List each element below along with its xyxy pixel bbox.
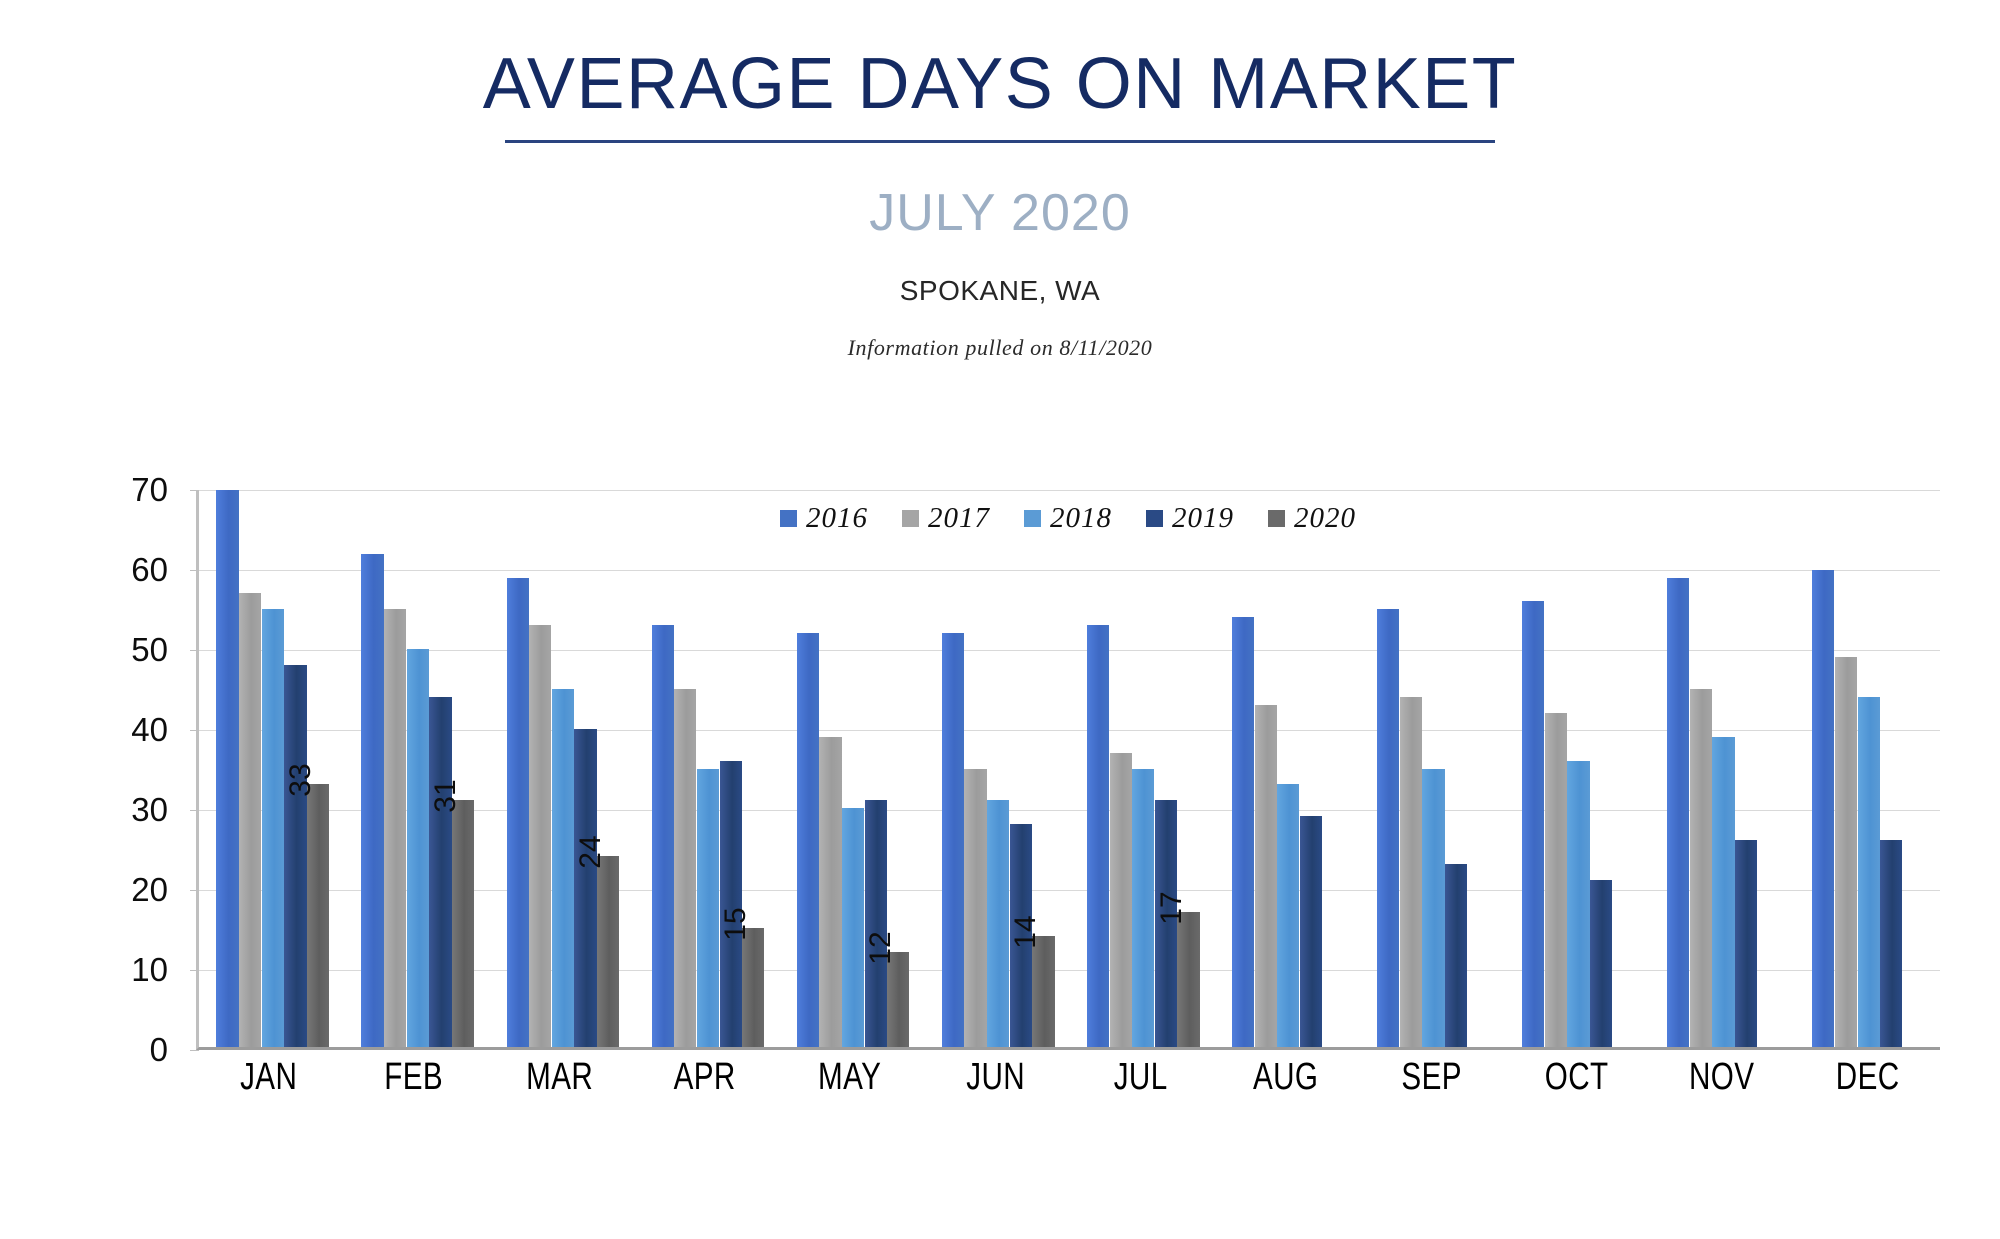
bar-group: 33: [199, 490, 344, 1047]
bar-2020-mar[interactable]: 24: [597, 856, 619, 1047]
bar-group: [1650, 490, 1795, 1047]
x-tick-label: JAN: [212, 1056, 325, 1099]
bar-2017-feb[interactable]: [384, 609, 406, 1047]
bar-group: [1215, 490, 1360, 1047]
bar-chart: 010203040506070 33312415121417 201620172…: [100, 490, 1940, 1170]
y-tick-mark: [190, 730, 199, 731]
bar-2020-jan[interactable]: 33: [307, 784, 329, 1047]
bar-2016-jan[interactable]: [216, 490, 238, 1047]
bar-2019-sep[interactable]: [1445, 864, 1467, 1047]
bar-2020-jul[interactable]: 17: [1177, 912, 1199, 1047]
x-tick-label: AUG: [1229, 1056, 1342, 1099]
bar-2017-oct[interactable]: [1545, 713, 1567, 1047]
bar-value-label: 15: [719, 907, 753, 940]
bar-group: [1505, 490, 1650, 1047]
bar-2018-jul[interactable]: [1132, 769, 1154, 1048]
x-axis-labels: JANFEBMARAPRMAYJUNJULAUGSEPOCTNOVDEC: [196, 1056, 1940, 1099]
y-tick-label: 70: [131, 471, 168, 509]
bar-2019-mar[interactable]: [574, 729, 596, 1047]
bar-2017-apr[interactable]: [674, 689, 696, 1047]
x-tick-label: SEP: [1375, 1056, 1488, 1099]
x-tick-label: FEB: [357, 1056, 470, 1099]
y-tick-mark: [190, 1050, 199, 1051]
bar-2017-may[interactable]: [819, 737, 841, 1047]
y-axis-labels: 010203040506070: [100, 490, 178, 1050]
bar-2018-apr[interactable]: [697, 769, 719, 1048]
y-tick-label: 20: [131, 871, 168, 909]
bar-2016-jun[interactable]: [942, 633, 964, 1047]
bar-2018-sep[interactable]: [1422, 769, 1444, 1048]
bar-2019-aug[interactable]: [1300, 816, 1322, 1047]
bar-group: [1795, 490, 1940, 1047]
bar-2018-mar[interactable]: [552, 689, 574, 1047]
x-tick-label: JUL: [1084, 1056, 1197, 1099]
bar-group: 17: [1069, 490, 1214, 1047]
bar-group: [1360, 490, 1505, 1047]
x-tick-label: JUN: [939, 1056, 1052, 1099]
chart-header: AVERAGE DAYS ON MARKET JULY 2020 SPOKANE…: [0, 0, 2000, 361]
bar-2016-jul[interactable]: [1087, 625, 1109, 1047]
bar-2017-sep[interactable]: [1400, 697, 1422, 1047]
bar-2019-may[interactable]: [865, 800, 887, 1047]
y-tick-label: 0: [150, 1031, 168, 1069]
bar-value-label: 24: [574, 835, 608, 868]
bar-value-label: 12: [864, 931, 898, 964]
y-tick-mark: [190, 970, 199, 971]
report-location: SPOKANE, WA: [0, 275, 2000, 307]
bar-2019-nov[interactable]: [1735, 840, 1757, 1047]
bar-2020-may[interactable]: 12: [887, 952, 909, 1047]
y-tick-label: 50: [131, 631, 168, 669]
bar-2016-feb[interactable]: [361, 554, 383, 1047]
bar-2018-oct[interactable]: [1567, 761, 1589, 1047]
x-tick-label: MAR: [503, 1056, 616, 1099]
bar-groups: 33312415121417: [199, 490, 1940, 1047]
bar-group: 24: [489, 490, 634, 1047]
bar-value-label: 31: [429, 780, 463, 813]
y-tick-mark: [190, 890, 199, 891]
bar-2016-apr[interactable]: [652, 625, 674, 1047]
chart-page: AVERAGE DAYS ON MARKET JULY 2020 SPOKANE…: [0, 0, 2000, 1239]
x-tick-label: NOV: [1665, 1056, 1778, 1099]
bar-2017-jun[interactable]: [964, 769, 986, 1048]
bar-2018-jun[interactable]: [987, 800, 1009, 1047]
report-period: JULY 2020: [0, 183, 2000, 243]
x-tick-label: OCT: [1520, 1056, 1633, 1099]
bar-2018-dec[interactable]: [1858, 697, 1880, 1047]
bar-2017-nov[interactable]: [1690, 689, 1712, 1047]
bar-value-label: 14: [1009, 915, 1043, 948]
bar-group: 12: [779, 490, 924, 1047]
bar-2017-jan[interactable]: [239, 593, 261, 1047]
x-tick-label: APR: [648, 1056, 761, 1099]
y-tick-mark: [190, 490, 199, 491]
bar-group: 31: [344, 490, 489, 1047]
bar-2019-oct[interactable]: [1590, 880, 1612, 1047]
bar-2016-aug[interactable]: [1232, 617, 1254, 1047]
bar-2018-feb[interactable]: [407, 649, 429, 1047]
bar-2019-apr[interactable]: [720, 761, 742, 1047]
bar-2017-dec[interactable]: [1835, 657, 1857, 1047]
title-underline: [505, 140, 1495, 143]
bar-2016-sep[interactable]: [1377, 609, 1399, 1047]
bar-2018-aug[interactable]: [1277, 784, 1299, 1047]
bar-2016-dec[interactable]: [1812, 570, 1834, 1047]
bar-2016-mar[interactable]: [507, 578, 529, 1047]
bar-2019-dec[interactable]: [1880, 840, 1902, 1047]
bar-2019-jan[interactable]: [284, 665, 306, 1047]
bar-2018-jan[interactable]: [262, 609, 284, 1047]
bar-value-label: 33: [284, 764, 318, 797]
plot-area: 33312415121417: [196, 490, 1940, 1050]
y-tick-label: 30: [131, 791, 168, 829]
y-tick-label: 10: [131, 951, 168, 989]
y-tick-mark: [190, 810, 199, 811]
page-title: AVERAGE DAYS ON MARKET: [0, 0, 2000, 120]
x-tick-label: DEC: [1811, 1056, 1924, 1099]
bar-2017-aug[interactable]: [1255, 705, 1277, 1047]
bar-2018-may[interactable]: [842, 808, 864, 1047]
bar-2020-jun[interactable]: 14: [1032, 936, 1054, 1047]
data-pulled-note: Information pulled on 8/11/2020: [0, 335, 2000, 361]
bar-2019-feb[interactable]: [429, 697, 451, 1047]
bar-value-label: 17: [1155, 891, 1189, 924]
bar-2016-may[interactable]: [797, 633, 819, 1047]
y-tick-mark: [190, 650, 199, 651]
bar-2020-feb[interactable]: 31: [452, 800, 474, 1047]
bar-2016-nov[interactable]: [1667, 578, 1689, 1047]
bar-2016-oct[interactable]: [1522, 601, 1544, 1047]
y-tick-label: 60: [131, 551, 168, 589]
bar-group: 14: [924, 490, 1069, 1047]
x-tick-label: MAY: [793, 1056, 906, 1099]
y-tick-mark: [190, 570, 199, 571]
bar-2017-mar[interactable]: [529, 625, 551, 1047]
bar-2018-nov[interactable]: [1712, 737, 1734, 1047]
bar-2017-jul[interactable]: [1110, 753, 1132, 1047]
bar-2020-apr[interactable]: 15: [742, 928, 764, 1047]
y-tick-label: 40: [131, 711, 168, 749]
bar-group: 15: [634, 490, 779, 1047]
